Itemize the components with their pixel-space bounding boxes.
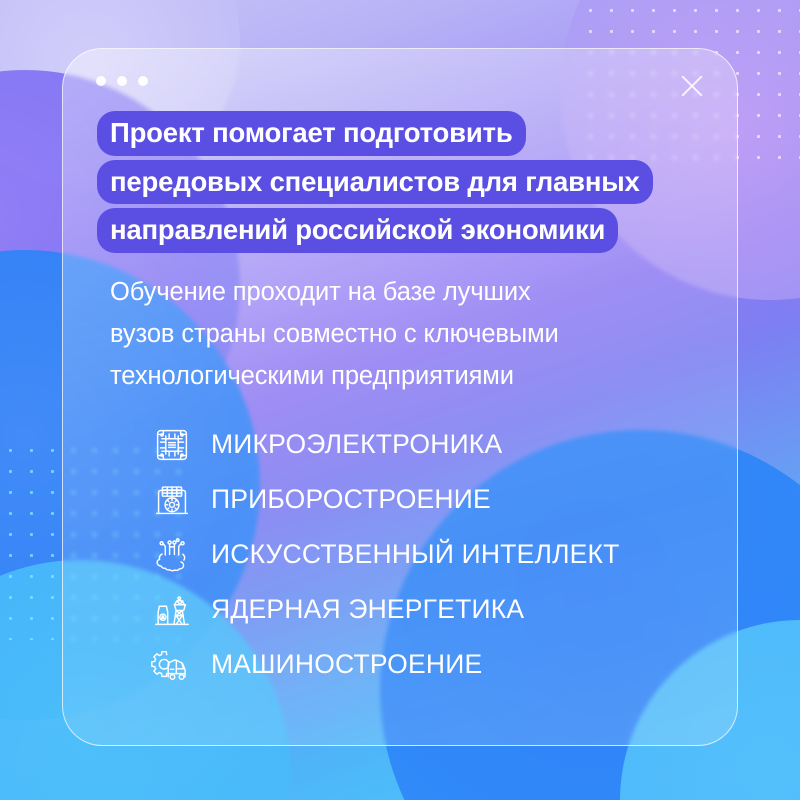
directions-list: МИКРОЭЛЕКТРОНИКА ПРИБОРОСТРОЕНИЕ [149, 417, 738, 692]
list-item-label: ИСКУССТВЕННЫЙ ИНТЕЛЛЕКТ [211, 541, 620, 568]
gear-vehicle-icon [149, 642, 195, 688]
window-dot-1[interactable] [96, 76, 106, 86]
nuclear-plant-icon [149, 587, 195, 633]
content-card: Проект помогает подготовить передовых сп… [62, 48, 738, 746]
list-item: ИСКУССТВЕННЫЙ ИНТЕЛЛЕКТ [149, 527, 738, 582]
list-item: МИКРОЭЛЕКТРОНИКА [149, 417, 738, 472]
list-item-label: МАШИНОСТРОЕНИЕ [211, 651, 482, 678]
close-icon[interactable] [677, 71, 707, 101]
ai-brain-icon [149, 532, 195, 578]
list-item-label: ЯДЕРНАЯ ЭНЕРГЕТИКА [211, 596, 524, 623]
title-line-2: передовых специалистов для главных [97, 160, 653, 205]
list-item-label: ПРИБОРОСТРОЕНИЕ [211, 486, 491, 513]
window-controls[interactable] [96, 76, 148, 86]
title-line-3: направлений российской экономики [97, 208, 618, 253]
title-line-1: Проект помогает подготовить [97, 111, 526, 156]
microchip-icon [149, 422, 195, 468]
subtitle-line-1: Обучение проходит на базе лучших [110, 271, 730, 313]
list-item: ЯДЕРНАЯ ЭНЕРГЕТИКА [149, 582, 738, 637]
subtitle: Обучение проходит на базе лучших вузов с… [110, 271, 730, 397]
page-title: Проект помогает подготовить передовых сп… [97, 111, 737, 257]
list-item: ПРИБОРОСТРОЕНИЕ [149, 472, 738, 527]
window-dot-2[interactable] [117, 76, 127, 86]
list-item-label: МИКРОЭЛЕКТРОНИКА [211, 431, 502, 458]
window-dot-3[interactable] [138, 76, 148, 86]
subtitle-line-2: вузов страны совместно с ключевыми [110, 313, 730, 355]
list-item: МАШИНОСТРОЕНИЕ [149, 637, 738, 692]
subtitle-line-3: технологическими предприятиями [110, 355, 730, 397]
instrument-panel-icon [149, 477, 195, 523]
